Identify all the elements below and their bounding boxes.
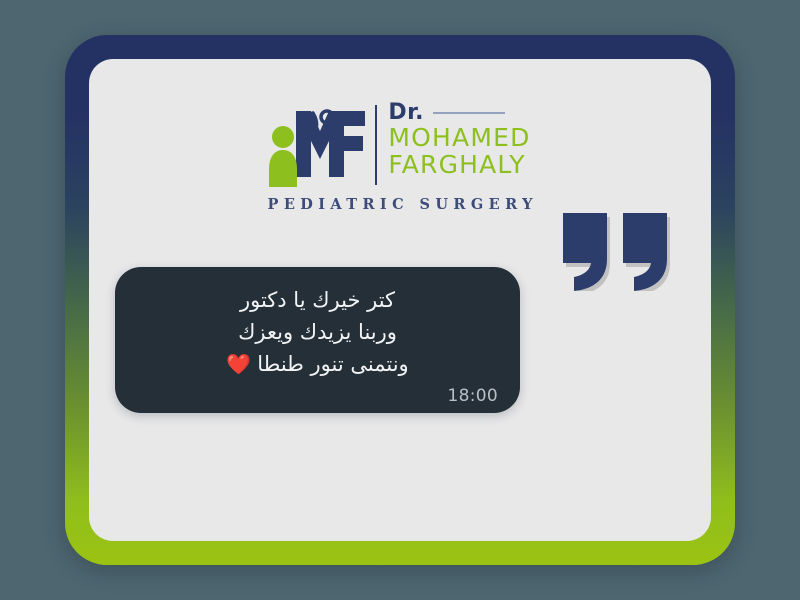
logo-name-last: FARGHALY [388,151,530,178]
logo-prefix-row: Dr. [388,102,530,124]
mf-monogram-icon [269,101,369,187]
heart-emoji: ❤️ [226,352,251,376]
testimonial-card: Dr. MOHAMED FARGHALY PEDIATRIC SURGERY ك [89,59,711,541]
clinic-logo: Dr. MOHAMED FARGHALY PEDIATRIC SURGERY [89,101,711,213]
testimonial-card-frame: Dr. MOHAMED FARGHALY PEDIATRIC SURGERY ك [65,35,735,565]
logo-divider [375,105,377,185]
logo-rule [433,112,505,114]
testimonial-message-text: كتر خيرك يا دكتور وربنا يزيدك ويعزك ونتم… [141,285,494,381]
logo-prefix: Dr. [388,102,424,124]
testimonial-message-bubble: كتر خيرك يا دكتور وربنا يزيدك ويعزك ونتم… [115,267,520,413]
close-quote-icon [561,213,673,291]
logo-main-row: Dr. MOHAMED FARGHALY [269,101,530,187]
message-timestamp: 18:00 [448,386,499,406]
logo-wordmark: Dr. MOHAMED FARGHALY [388,101,530,178]
message-line-1: كتر خيرك يا دكتور [141,285,494,317]
message-line-3: ونتمنى تنور طنطا❤️ [141,349,494,381]
message-line-2: وربنا يزيدك ويعزك [141,317,494,349]
logo-tagline: PEDIATRIC SURGERY [262,196,538,213]
message-line-3-text: ونتمنى تنور طنطا [257,352,409,376]
logo-name-first: MOHAMED [388,124,530,151]
